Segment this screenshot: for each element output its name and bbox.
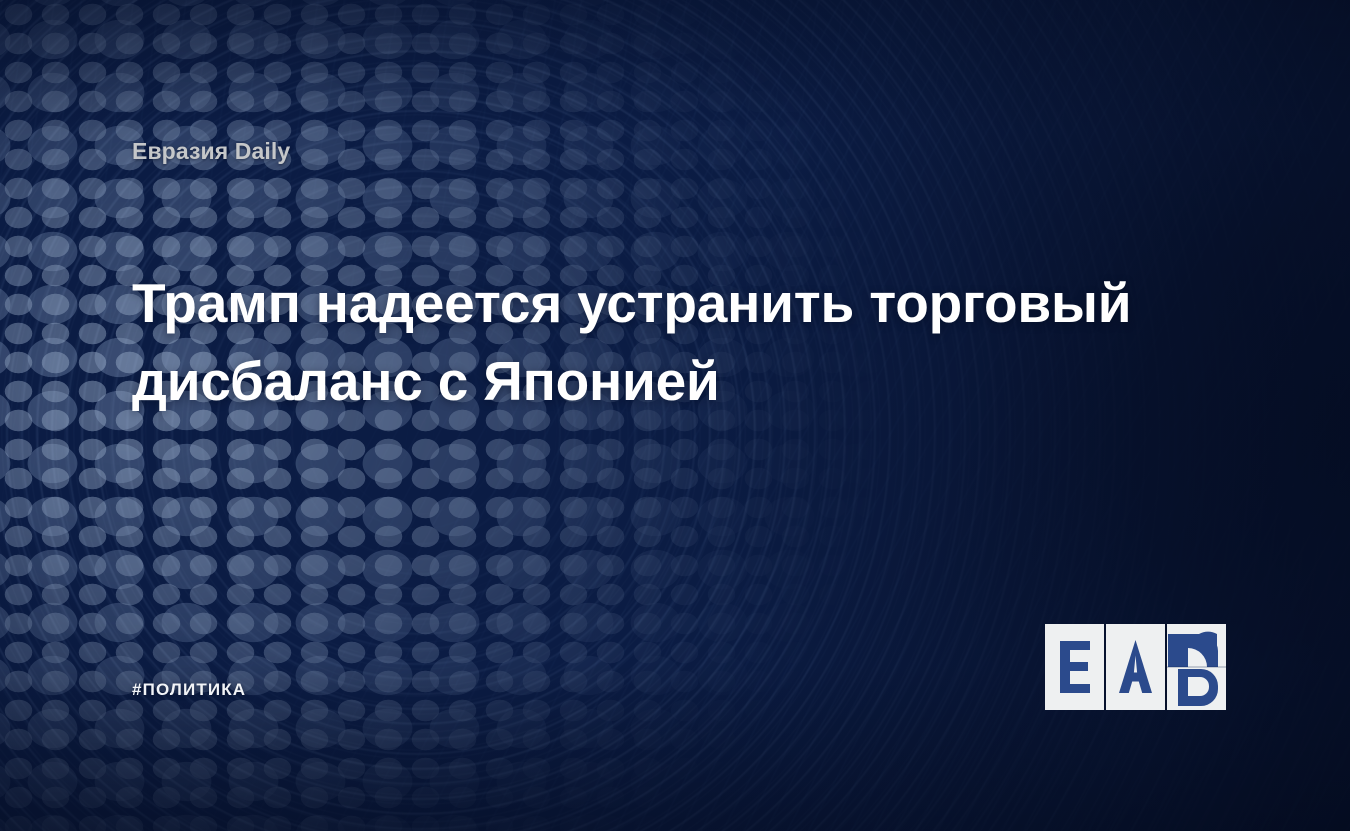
letter-e-icon [1045, 624, 1104, 710]
category-hashtag: #ПОЛИТИКА [132, 680, 246, 700]
site-name: Евразия Daily [132, 138, 290, 165]
card-content: Евразия Daily Трамп надеется устранить т… [0, 0, 1350, 831]
social-share-card: Евразия Daily Трамп надеется устранить т… [0, 0, 1350, 831]
article-headline: Трамп надеется устранить торговый дисбал… [132, 264, 1152, 420]
logo-tile-e [1045, 624, 1104, 710]
logo-tile-d [1167, 624, 1226, 710]
letter-a-icon [1106, 624, 1165, 710]
eadaily-logo [1045, 624, 1227, 710]
letter-d-split-icon [1167, 624, 1226, 710]
logo-tile-a [1106, 624, 1165, 710]
